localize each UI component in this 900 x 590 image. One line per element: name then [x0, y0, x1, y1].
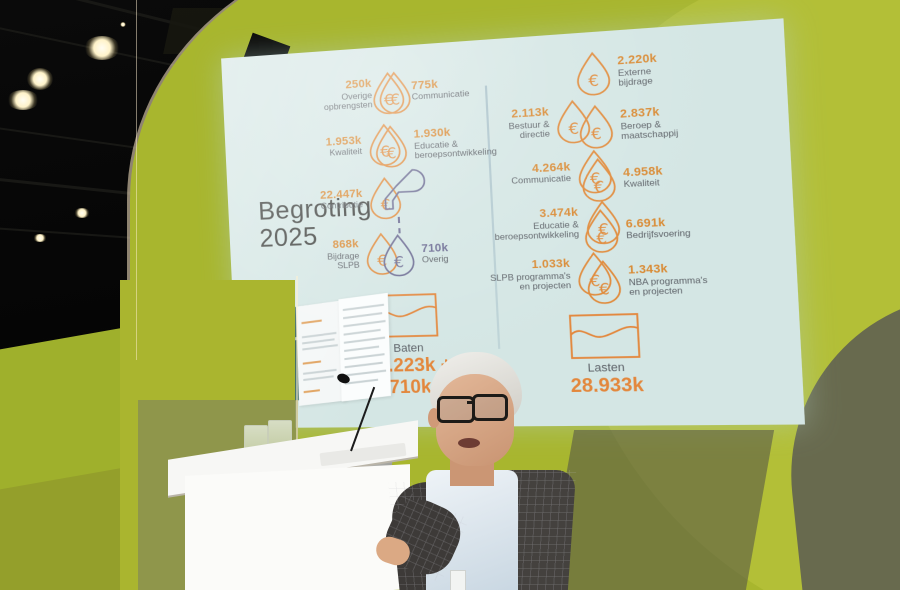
expense-label: 2.220k Externebijdrage: [617, 52, 658, 89]
name-badge: [450, 570, 466, 590]
revenue-label: 1.930k Educatie &beroepsontwikkeling: [413, 124, 497, 162]
stage-light-icon: [27, 68, 53, 90]
floor-shadow: [546, 430, 774, 590]
svg-text:€: €: [393, 253, 404, 272]
euro-drop-icon: €: [380, 233, 418, 277]
svg-text:€: €: [590, 124, 602, 144]
revenue-label: 775k Communicatie: [411, 76, 470, 103]
expense-label: 2.113k Bestuur &directie: [508, 106, 551, 142]
euro-drop-icon: €: [372, 124, 410, 169]
stage-light-icon: [33, 234, 47, 242]
mouth: [458, 438, 480, 448]
revenue-label: 250k Overigeopbrengsten: [323, 78, 373, 114]
expense-item: € 1.343k NBA programma'sen projecten: [584, 256, 709, 305]
expense-item: € 4.958k Kwaliteit: [579, 154, 665, 203]
panel-edge-highlight: [136, 0, 137, 360]
expense-label: 3.474k Educatie &beroepsontwikkeling: [493, 206, 579, 243]
stage-light-icon: [74, 208, 90, 218]
expense-label: 4.958k Kwaliteit: [623, 165, 664, 191]
revenue-item: € 1.930k Educatie &beroepsontwikkeling: [372, 119, 497, 169]
speaker-figure: [392, 352, 572, 590]
eyeglasses-bridge: [467, 401, 475, 404]
svg-text:€: €: [593, 177, 605, 197]
svg-text:€: €: [588, 71, 600, 91]
euro-drop-icon: €: [576, 103, 616, 150]
euro-drop-icon: €: [581, 208, 621, 254]
expense-label: 1.033k SLPB programma'sen projecten: [489, 257, 571, 293]
revenue-label: 22.447k Contributie: [320, 188, 363, 213]
conference-stage-photo: Begroting 2025 250k Overigeopbrengsten €…: [0, 0, 900, 590]
svg-text:€: €: [596, 228, 608, 248]
expense-label: 6.691k Bedrijfsvoering: [625, 215, 690, 241]
svg-text:€: €: [386, 144, 397, 163]
revenue-label: 710k Overig: [421, 242, 449, 266]
lectern-body: [185, 464, 410, 590]
euro-drop-icon: €: [370, 70, 408, 115]
funnel-drip: [398, 217, 400, 223]
revenue-item: € 710k Overig: [380, 231, 450, 277]
eyeglasses-icon: [472, 394, 508, 421]
euro-drop-icon: €: [584, 259, 624, 305]
revenue-label: 868k BijdrageSLPB: [326, 238, 360, 272]
expense-item: € 2.837k Beroep &maatschappij: [576, 99, 679, 149]
expense-label: 1.343k NBA programma'sen projecten: [628, 261, 708, 298]
svg-text:€: €: [598, 279, 610, 299]
tray-icon: [566, 310, 643, 368]
svg-text:€: €: [383, 90, 394, 109]
revenue-label: 1.953k Kwaliteit: [325, 134, 362, 159]
stage-light-icon: [120, 22, 126, 27]
funnel-icon: [381, 166, 434, 227]
expense-item: € 2.220k Externebijdrage: [573, 47, 658, 97]
stage-light-icon: [7, 90, 39, 110]
euro-drop-icon: €: [573, 50, 613, 97]
revenue-item: € 775k Communicatie: [370, 66, 471, 116]
book-page-right: [338, 293, 391, 402]
expense-item: € 6.691k Bedrijfsvoering: [581, 205, 691, 254]
expense-label: 4.264k Communicatie: [510, 161, 571, 187]
expense-label: 2.837k Beroep &maatschappij: [620, 105, 679, 142]
euro-drop-icon: €: [579, 156, 619, 202]
stage-light-icon: [84, 36, 120, 60]
